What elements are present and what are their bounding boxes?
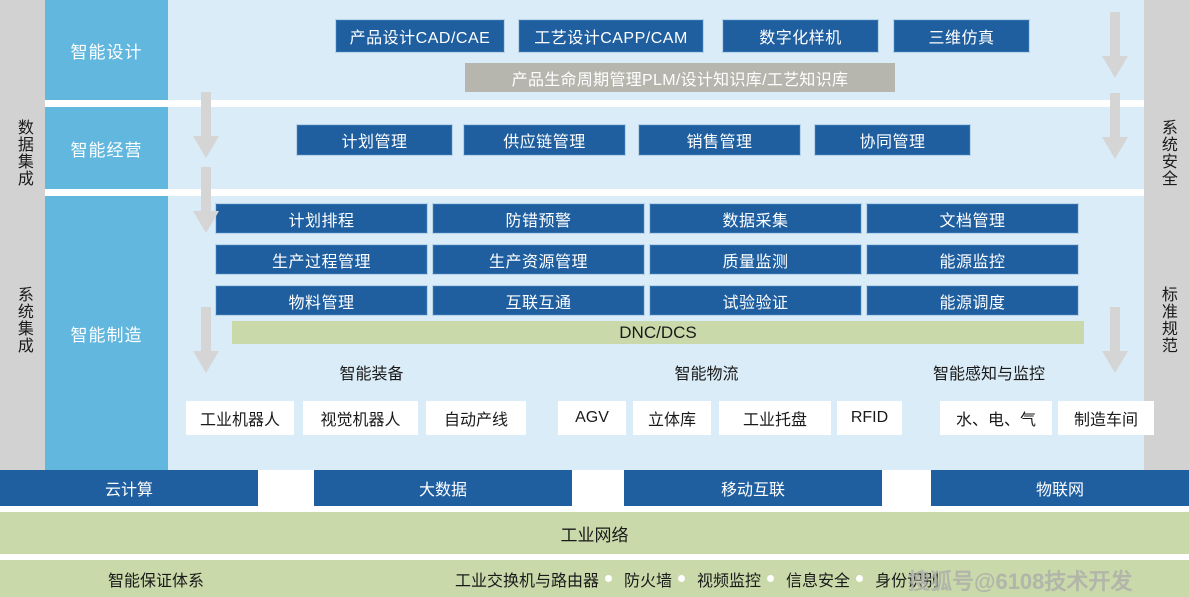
bullet-icon [605,575,612,582]
network-band: 工业网络 [0,512,1189,554]
assurance-label: 信息安全 [786,567,850,591]
chip-agv[interactable]: AGV [558,401,626,435]
button-interconnection[interactable]: 互联互通 [432,285,645,316]
bar-dnc-dcs: DNC/DCS [232,321,1084,344]
tier-label-intelligent-design: 智能设计 [45,0,168,100]
tier-label-intelligent-operations: 智能经营 [45,107,168,189]
assurance-item-firewall[interactable]: 防火墙 [599,567,672,591]
group-caption-smart-equipment: 智能装备 [315,360,428,384]
button-process-design-capp-cam[interactable]: 工艺设计CAPP/CAM [518,19,704,53]
bar-plm-knowledge-base: 产品生命周期管理PLM/设计知识库/工艺知识库 [465,63,895,92]
button-error-prevention-alert[interactable]: 防错预警 [432,203,645,234]
rail-label-system-integration: 系统集成 [0,255,45,385]
assurance-item-video-surveillance[interactable]: 视频监控 [672,567,761,591]
assurance-label: 工业交换机与路由器 [455,567,599,591]
button-material-management[interactable]: 物料管理 [215,285,428,316]
button-data-acquisition[interactable]: 数据采集 [649,203,862,234]
platform-button-big-data[interactable]: 大数据 [314,470,572,506]
chip-stereoscopic-warehouse[interactable]: 立体库 [633,401,711,435]
chip-industrial-pallet[interactable]: 工业托盘 [719,401,831,435]
button-energy-dispatch[interactable]: 能源调度 [866,285,1079,316]
right-rail: 系统安全 标准规范 [1144,0,1189,470]
button-product-design-cad-cae[interactable]: 产品设计CAD/CAE [335,19,505,53]
button-3d-simulation[interactable]: 三维仿真 [893,19,1030,53]
tier-label-intelligent-manufacturing: 智能制造 [45,196,168,470]
chip-rfid[interactable]: RFID [837,401,902,435]
platform-button-mobile-internet[interactable]: 移动互联 [624,470,882,506]
button-collaboration-management[interactable]: 协同管理 [814,124,971,156]
assurance-label: 防火墙 [624,567,672,591]
button-energy-monitoring[interactable]: 能源监控 [866,244,1079,275]
button-quality-monitoring[interactable]: 质量监测 [649,244,862,275]
button-sales-management[interactable]: 销售管理 [638,124,801,156]
arrow-down-icon-left-1 [193,92,219,158]
chip-automatic-production-line[interactable]: 自动产线 [426,401,526,435]
button-supply-chain-management[interactable]: 供应链管理 [463,124,626,156]
button-production-scheduling[interactable]: 计划排程 [215,203,428,234]
button-test-verification[interactable]: 试验验证 [649,285,862,316]
bullet-icon [856,575,863,582]
assurance-item-industrial-switch-router[interactable]: 工业交换机与路由器 [455,567,599,591]
group-caption-smart-sensing-monitoring: 智能感知与监控 [904,360,1074,384]
assurance-label: 身份识别 [875,567,939,591]
button-document-management[interactable]: 文档管理 [866,203,1079,234]
platform-button-cloud-computing[interactable]: 云计算 [0,470,258,506]
arrow-down-icon-left-2 [193,167,219,233]
bullet-icon [767,575,774,582]
assurance-title: 智能保证体系 [108,560,204,597]
assurance-band: 智能保证体系 工业交换机与路由器 防火墙 视频监控 信息安全 身份识别 [0,560,1189,597]
assurance-label: 视频监控 [697,567,761,591]
chip-vision-robot[interactable]: 视觉机器人 [303,401,418,435]
assurance-item-information-security[interactable]: 信息安全 [761,567,850,591]
button-production-resource-management[interactable]: 生产资源管理 [432,244,645,275]
chip-water-electricity-gas[interactable]: 水、电、气 [940,401,1052,435]
assurance-item-identity-recognition[interactable]: 身份识别 [850,567,939,591]
chip-industrial-robot[interactable]: 工业机器人 [186,401,294,435]
platform-band: 云计算 大数据 移动互联 物联网 [0,470,1189,506]
architecture-diagram: 数据集成 系统集成 系统安全 标准规范 智能设计 产品设计CAD/CAE 工艺设… [0,0,1189,597]
arrow-down-icon-right-1 [1102,12,1128,78]
chip-manufacturing-workshop[interactable]: 制造车间 [1058,401,1154,435]
rail-label-system-security: 系统安全 [1144,88,1189,218]
bullet-icon [678,575,685,582]
button-digital-prototype[interactable]: 数字化样机 [722,19,879,53]
rail-label-standards: 标准规范 [1144,255,1189,385]
network-band-label: 工业网络 [561,521,629,546]
main-canvas: 智能设计 产品设计CAD/CAE 工艺设计CAPP/CAM 数字化样机 三维仿真… [45,0,1144,470]
button-production-process-management[interactable]: 生产过程管理 [215,244,428,275]
arrow-down-icon-right-3 [1102,307,1128,373]
button-plan-management[interactable]: 计划管理 [296,124,453,156]
left-rail: 数据集成 系统集成 [0,0,45,470]
group-caption-smart-logistics: 智能物流 [650,360,763,384]
arrow-down-icon-right-2 [1102,93,1128,159]
platform-button-iot[interactable]: 物联网 [931,470,1189,506]
rail-label-data-integration: 数据集成 [0,88,45,218]
arrow-down-icon-left-3 [193,307,219,373]
assurance-items: 工业交换机与路由器 防火墙 视频监控 信息安全 身份识别 [455,560,939,597]
